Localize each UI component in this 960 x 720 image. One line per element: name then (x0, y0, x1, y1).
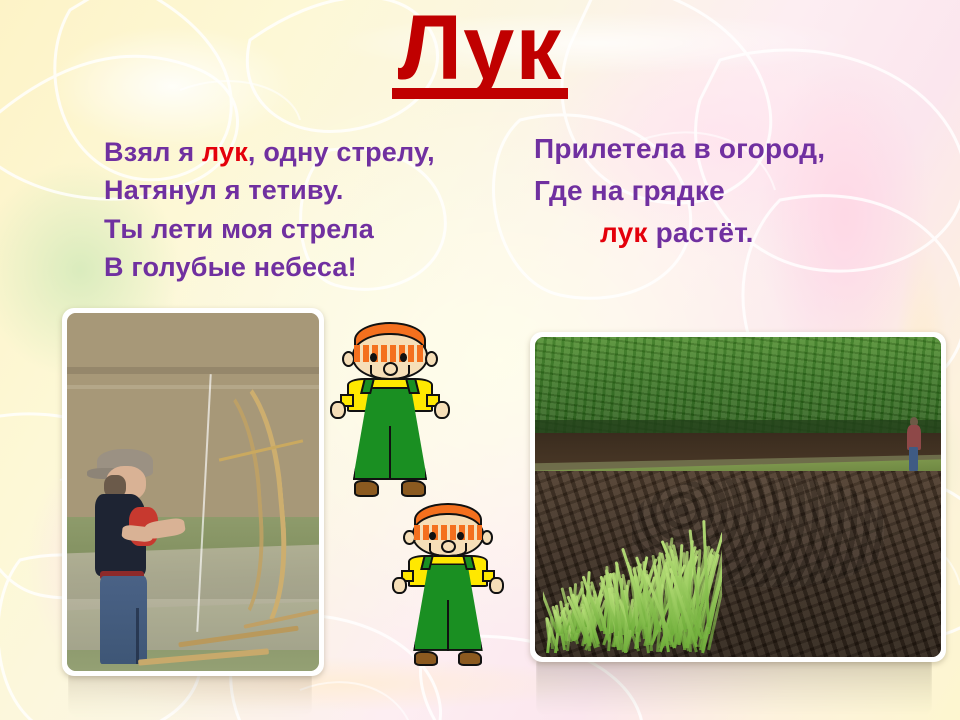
cartoon-boy-1-hand-left (330, 401, 346, 419)
slide-title-block: Лук (0, 2, 960, 99)
cartoon-boy-1-ear-right (425, 351, 438, 367)
cartoon-boy-1-hand-right (434, 401, 450, 419)
poem-right-line3-part-b: растёт. (648, 217, 754, 248)
garden-photo-inner (535, 337, 941, 657)
poem-left-line-3: Ты лети моя стрела (104, 210, 435, 248)
cartoon-boy-1-shoe-left (354, 480, 379, 496)
cartoon-boy-2-overall-seam (447, 600, 449, 650)
cartoon-boy-2-hand-right (489, 577, 504, 594)
cartoon-boy-2-eye-left (429, 532, 436, 540)
page-title: Лук (398, 2, 563, 94)
poem-left-line-4: В голубые небеса! (104, 248, 435, 286)
garden-photo-reflection (536, 654, 932, 716)
cartoon-boy-1-eye-left (370, 353, 377, 362)
poem-left-line1-part-b: , одну стрелу, (248, 137, 435, 167)
archer-jeans-seam (136, 608, 139, 664)
poem-right-line-2: Где на грядке (534, 170, 825, 212)
poem-right-line-1: Прилетела в огород, (534, 128, 825, 170)
garden-photo (530, 332, 946, 662)
poem-right-line-3: лук растёт. (534, 212, 825, 254)
slide: Лук Взял я лук, одну стрелу, Натянул я т… (0, 0, 960, 720)
cartoon-boy-2-shoe-left (414, 651, 438, 666)
cartoon-boy-1-shoe-right (401, 480, 426, 496)
stone-wall-ledge-secondary (67, 385, 319, 389)
poem-left-line-2: Натянул я тетиву. (104, 171, 435, 209)
stone-wall-ledge (67, 367, 319, 374)
distant-person-jacket (907, 425, 921, 449)
archery-photo (62, 308, 324, 676)
cartoon-boy-1-eye-right (400, 353, 407, 362)
archer-jeans (100, 576, 147, 664)
distant-person-jeans (909, 447, 918, 471)
poem-left-line-1: Взял я лук, одну стрелу, (104, 133, 435, 171)
poem-left-line1-highlight: лук (202, 137, 248, 167)
distant-person (907, 417, 921, 471)
poem-left-line1-part-a: Взял я (104, 137, 202, 167)
cartoon-boy-1-overall-seam (389, 426, 391, 480)
archery-photo-inner (67, 313, 319, 671)
cartoon-boy-2 (392, 503, 504, 671)
cartoon-boy-1 (330, 322, 450, 502)
archer-boy (95, 449, 186, 664)
poem-left: Взял я лук, одну стрелу, Натянул я тетив… (104, 133, 435, 286)
poem-right-line3-highlight: лук (534, 212, 648, 254)
cartoon-boy-1-hair-fringe (354, 345, 426, 361)
poem-right: Прилетела в огород, Где на грядке лук ра… (534, 128, 825, 254)
cartoon-boy-2-eye-right (457, 532, 464, 540)
cartoon-boy-2-hand-left (392, 577, 407, 594)
cartoon-boy-2-hair-fringe (414, 525, 481, 540)
cartoon-boy-2-shoe-right (458, 651, 482, 666)
onion-row (543, 468, 722, 657)
cartoon-boy-2-ear-right (481, 530, 493, 545)
